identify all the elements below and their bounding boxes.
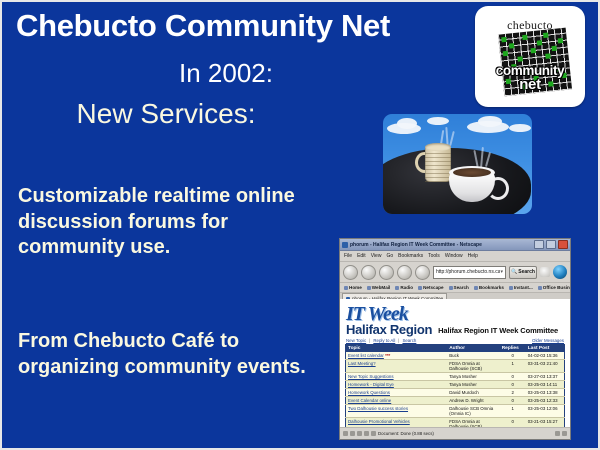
bookmark-home[interactable]: Home xyxy=(344,285,362,290)
address-bar-value: http://phorum.chebucto.ns.ca/list.php?f=… xyxy=(436,269,500,275)
search-icon: 🔍 xyxy=(511,269,517,275)
title-subline-year: In 2002: xyxy=(16,58,436,89)
bookmark-netscape[interactable]: Netscape xyxy=(418,285,443,290)
topic-link[interactable]: Dalhousie Promotional Vehicles xyxy=(348,419,410,424)
browser-personal-toolbar: Home WebMail Radio Netscape Search Bookm… xyxy=(340,283,570,293)
mug-ribs xyxy=(425,152,451,182)
column-header-topic: Topic xyxy=(346,344,448,352)
topic-link[interactable]: Event list calendar xyxy=(348,353,384,358)
search-button[interactable]: 🔍 Search xyxy=(509,266,537,279)
cell-author: Buck xyxy=(447,352,499,360)
bookmark-radio[interactable]: Radio xyxy=(395,285,413,290)
cell-topic[interactable]: Homework Questions xyxy=(346,388,448,396)
mail-icon[interactable] xyxy=(350,431,355,436)
composer-icon[interactable] xyxy=(357,431,362,436)
bookmark-label: Search xyxy=(454,285,469,290)
netscape-document-icon xyxy=(342,242,348,248)
bookmark-label: Netscape xyxy=(423,285,443,290)
cell-topic[interactable]: Last Meeting? xyxy=(346,359,448,372)
cell-last-post: 03-25-03 14:11 xyxy=(526,380,565,388)
table-row[interactable]: Homework - Digital EyeTanya Mosher003-25… xyxy=(346,380,565,388)
table-header-row: Topic Author Replies Last Post xyxy=(346,344,565,352)
nav-reply-to-all[interactable]: Reply to All xyxy=(373,338,395,343)
cloud-shape xyxy=(427,117,449,125)
chebucto-community-net-logo: chebucto community net xyxy=(475,6,585,107)
cell-topic[interactable]: Event list calendar *** xyxy=(346,352,448,360)
folder-icon xyxy=(538,286,542,290)
nav-search[interactable]: Search xyxy=(402,338,416,343)
search-button-label: Search xyxy=(518,269,535,275)
menu-help[interactable]: Help xyxy=(468,253,478,259)
site-header: IT Week Halifax Region Halifax Region IT… xyxy=(340,299,570,337)
cell-last-post: 03-25-03 13:38 xyxy=(526,388,565,396)
cell-last-post: 03-25-03 12:33 xyxy=(526,397,565,405)
menu-edit[interactable]: Edit xyxy=(357,253,366,259)
browser-window-title: phorum - Halifax Region IT Week Committe… xyxy=(350,242,532,248)
browser-page-content: IT Week Halifax Region Halifax Region IT… xyxy=(340,299,570,428)
maximize-button[interactable] xyxy=(546,240,556,249)
reload-icon[interactable] xyxy=(379,265,394,280)
cell-replies: 0 xyxy=(500,372,526,380)
cell-topic[interactable]: New Topic Suggestions xyxy=(346,372,448,380)
body-paragraph-1: Customizable realtime online discussion … xyxy=(18,184,318,261)
logo-word-net: net xyxy=(475,76,585,93)
address-bar[interactable]: http://phorum.chebucto.ns.ca/list.php?f=… xyxy=(433,266,506,279)
close-button[interactable] xyxy=(558,240,568,249)
body-paragraph-2: From Chebucto Café to organizing communi… xyxy=(18,329,318,380)
table-row[interactable]: Last Meeting?FDSA Omnia at Dalhousie (SC… xyxy=(346,359,565,372)
cloud-shape xyxy=(397,118,417,129)
browser-status-bar: Document: Done (0.88 secs) xyxy=(340,427,570,439)
bookmark-label: Home xyxy=(349,285,362,290)
status-text: Document: Done (0.88 secs) xyxy=(378,431,553,436)
bookmark-label: Instant... xyxy=(514,285,533,290)
netscape-browser-screenshot: phorum - Halifax Region IT Week Committe… xyxy=(339,238,571,440)
topic-link[interactable]: Homework Questions xyxy=(348,390,390,395)
cell-replies: 1 xyxy=(500,405,526,418)
security-icon[interactable] xyxy=(371,431,376,436)
lock-icon[interactable] xyxy=(555,431,560,436)
two-coffee-cups-on-table-photo xyxy=(383,114,532,214)
folder-icon xyxy=(418,286,422,290)
cell-author: FDSA Omnia at Dalhousie (SCB) xyxy=(447,359,499,372)
bookmark-bookmarks[interactable]: Bookmarks xyxy=(474,285,504,290)
bookmark-office-business[interactable]: Office Business... xyxy=(538,285,570,290)
browser-navigation-toolbar: http://phorum.chebucto.ns.ca/list.php?f=… xyxy=(340,262,570,283)
forum-table-body: Event list calendar ***Buck004-02-03 15:… xyxy=(346,352,565,428)
menu-bookmarks[interactable]: Bookmarks xyxy=(398,253,423,259)
nav-separator: | xyxy=(369,338,370,343)
cell-last-post: 04-02-03 15:36 xyxy=(526,352,565,360)
table-row[interactable]: Event list calendar ***Buck004-02-03 15:… xyxy=(346,352,565,360)
it-week-logo: IT Week xyxy=(346,304,564,324)
folder-icon xyxy=(367,286,371,290)
cell-author: David Murdoch xyxy=(447,388,499,396)
menu-view[interactable]: View xyxy=(371,253,382,259)
cell-last-post: 03-25-03 12:06 xyxy=(526,405,565,418)
cell-author: Dalhousie SCB Omnia (Omnia IC) xyxy=(447,405,499,418)
cell-replies: 2 xyxy=(500,388,526,396)
topic-link[interactable]: Event Calendar online xyxy=(348,398,391,403)
cell-replies: 0 xyxy=(500,352,526,360)
new-badge: *** xyxy=(384,353,390,358)
topic-link[interactable]: Homework - Digital Eye xyxy=(348,382,394,387)
cell-replies: 1 xyxy=(500,359,526,372)
committee-page-title: Halifax Region IT Week Committee xyxy=(438,326,558,337)
menu-window[interactable]: Window xyxy=(445,253,463,259)
column-header-lastpost: Last Post xyxy=(526,344,565,352)
cloud-shape xyxy=(478,116,502,127)
folder-icon xyxy=(509,286,513,290)
table-row[interactable]: Two Dalhousie success storiesDalhousie S… xyxy=(346,405,565,418)
mug-rim xyxy=(425,143,451,151)
cell-topic[interactable]: Homework - Digital Eye xyxy=(346,380,448,388)
cloud-shape xyxy=(509,124,531,132)
folder-icon xyxy=(474,286,478,290)
table-row[interactable]: Event Calendar onlineAndrew D. Wright003… xyxy=(346,397,565,405)
nav-new-topic[interactable]: New Topic xyxy=(346,338,366,343)
forum-topics-table: Topic Author Replies Last Post Event lis… xyxy=(345,344,565,428)
presentation-slide: Chebucto Community Net In 2002: New Serv… xyxy=(0,0,600,450)
ribbed-mug xyxy=(425,146,451,182)
print-icon[interactable] xyxy=(540,267,550,277)
bookmark-label: WebMail xyxy=(372,285,391,290)
cell-last-post: 03-31-03 21:40 xyxy=(526,359,565,372)
menu-file[interactable]: File xyxy=(344,253,352,259)
menu-go[interactable]: Go xyxy=(386,253,393,259)
coffee-liquid xyxy=(453,168,491,177)
topic-link[interactable]: New Topic Suggestions xyxy=(348,374,394,379)
bookmark-instant[interactable]: Instant... xyxy=(509,285,533,290)
bookmark-search[interactable]: Search xyxy=(449,285,469,290)
cell-last-post: 03-27-03 13:37 xyxy=(526,372,565,380)
addressbook-icon[interactable] xyxy=(364,431,369,436)
menu-tools[interactable]: Tools xyxy=(428,253,440,259)
status-right-icons xyxy=(555,431,567,436)
home-icon[interactable] xyxy=(415,265,430,280)
bookmark-label: Office Business... xyxy=(543,285,570,290)
minimize-button[interactable] xyxy=(534,240,544,249)
folder-icon xyxy=(449,286,453,290)
cell-author: Andrew D. Wright xyxy=(447,397,499,405)
browser-menu-bar: File Edit View Go Bookmarks Tools Window… xyxy=(340,251,570,262)
cell-author: Tanya Mosher xyxy=(447,372,499,380)
resize-grip-icon[interactable] xyxy=(562,431,567,436)
online-icon[interactable] xyxy=(343,431,348,436)
table-row[interactable]: Homework QuestionsDavid Murdoch203-25-03… xyxy=(346,388,565,396)
table-row[interactable]: New Topic SuggestionsTanya Mosher003-27-… xyxy=(346,372,565,380)
forward-icon[interactable] xyxy=(361,265,376,280)
halifax-region-logo: Halifax Region xyxy=(346,323,432,337)
nav-older-messages[interactable]: Older Messages xyxy=(532,338,564,343)
column-header-author: Author xyxy=(447,344,499,352)
folder-icon xyxy=(344,286,348,290)
folder-icon xyxy=(395,286,399,290)
cell-topic[interactable]: Event Calendar online xyxy=(346,397,448,405)
forum-top-nav: New Topic | Reply to All | Search Older … xyxy=(340,337,570,344)
topic-link[interactable]: Two Dalhousie success stories xyxy=(348,406,408,411)
browser-title-bar: phorum - Halifax Region IT Week Committe… xyxy=(340,239,570,251)
bookmark-label: Radio xyxy=(400,285,413,290)
nav-separator: | xyxy=(398,338,399,343)
title-subline-services: New Services: xyxy=(16,98,316,130)
chevron-down-icon[interactable]: ▾ xyxy=(500,269,503,275)
site-header-row: Halifax Region Halifax Region IT Week Co… xyxy=(346,324,564,337)
cell-replies: 0 xyxy=(500,397,526,405)
back-icon[interactable] xyxy=(343,265,358,280)
stop-icon[interactable] xyxy=(397,265,412,280)
steam-wisp xyxy=(449,131,455,146)
bookmark-label: Bookmarks xyxy=(479,285,504,290)
cell-replies: 0 xyxy=(500,380,526,388)
cell-topic[interactable]: Two Dalhousie success stories xyxy=(346,405,448,418)
netscape-n-icon[interactable] xyxy=(553,265,567,279)
column-header-replies: Replies xyxy=(500,344,526,352)
page-title: Chebucto Community Net xyxy=(16,8,456,44)
bookmark-webmail[interactable]: WebMail xyxy=(367,285,391,290)
topic-link[interactable]: Last Meeting? xyxy=(348,361,376,366)
cell-author: Tanya Mosher xyxy=(447,380,499,388)
